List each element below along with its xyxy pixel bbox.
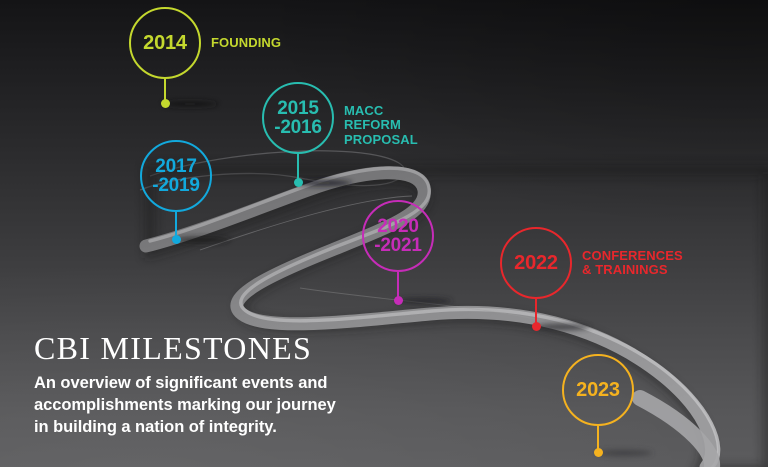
milestone-bubble-2020-2021[interactable]: 2020 -2021 [362, 200, 434, 272]
page-subtitle: An overview of significant events and ac… [34, 373, 374, 438]
milestone-label-2015-2016: MACC REFORM PROPOSAL [344, 104, 418, 148]
milestone-dot-2017-2019 [172, 235, 181, 244]
milestone-dot-2023 [594, 448, 603, 457]
milestone-bubble-2015-2016[interactable]: 2015 -2016 [262, 82, 334, 154]
milestone-bubble-2023[interactable]: 2023 [562, 354, 634, 426]
milestone-label-2014: FOUNDING [211, 36, 281, 51]
title-block: CBI MILESTONES An overview of significan… [34, 332, 374, 438]
milestone-label-2022: CONFERENCES & TRAININGS [582, 249, 683, 278]
milestone-dot-2014 [161, 99, 170, 108]
milestone-dot-2020-2021 [394, 296, 403, 305]
milestone-bubble-2022[interactable]: 2022 [500, 227, 572, 299]
milestone-dot-2022 [532, 322, 541, 331]
infographic-canvas: 2014FOUNDING2015 -2016MACC REFORM PROPOS… [0, 0, 768, 467]
page-title: CBI MILESTONES [34, 332, 374, 364]
milestone-bubble-2017-2019[interactable]: 2017 -2019 [140, 140, 212, 212]
milestone-dot-2015-2016 [294, 178, 303, 187]
milestone-bubble-2014[interactable]: 2014 [129, 7, 201, 79]
